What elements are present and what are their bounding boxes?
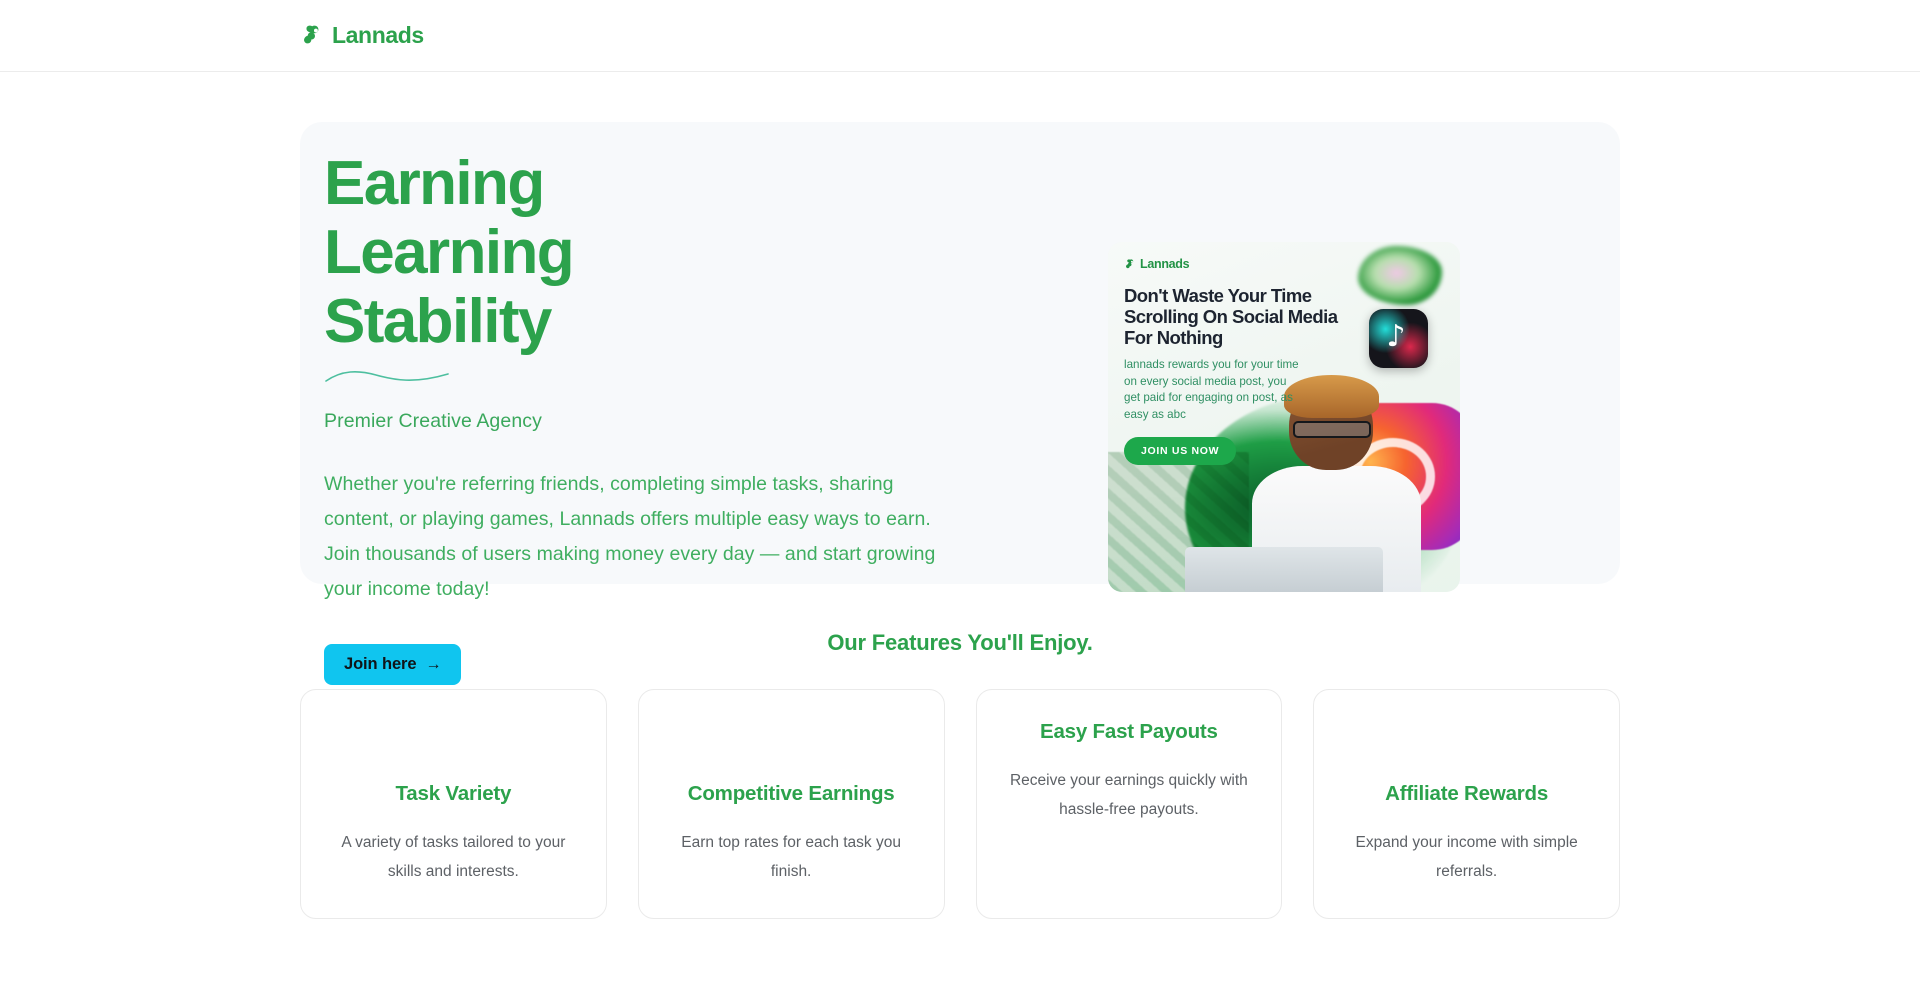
site-header: Lannads (0, 0, 1920, 72)
lannads-clover-icon (300, 23, 326, 49)
feature-card-description: A variety of tasks tailored to your skil… (325, 829, 582, 886)
join-here-label: Join here (344, 655, 416, 674)
hero-title-line-2: Learning (324, 219, 1000, 288)
feature-card[interactable]: Task Variety A variety of tasks tailored… (300, 689, 607, 919)
hero-promo-image[interactable]: ♪ Lannads Don't Waste Your Time Scrollin… (1108, 242, 1460, 592)
feature-card-grid: Task Variety A variety of tasks tailored… (300, 689, 1620, 919)
promo-subtext: lannads rewards you for your time on eve… (1124, 357, 1299, 423)
brand-logo-text: Lannads (332, 24, 424, 47)
feature-card-title: Easy Fast Payouts (1001, 720, 1258, 744)
feature-card-description: Expand your income with simple referrals… (1338, 829, 1595, 886)
hero-title-line-3: Stability (324, 288, 1000, 357)
promo-content: Lannads Don't Waste Your Time Scrolling … (1108, 242, 1460, 592)
feature-card-description: Receive your earnings quickly with hassl… (1001, 767, 1258, 824)
feature-card[interactable]: Affiliate Rewards Expand your income wit… (1313, 689, 1620, 919)
wave-divider-icon (324, 368, 450, 386)
feature-card-description: Earn top rates for each task you finish. (663, 829, 920, 886)
feature-card-title: Task Variety (325, 782, 582, 806)
hero-kicker: Premier Creative Agency (324, 410, 1000, 433)
feature-card-title: Affiliate Rewards (1338, 782, 1595, 806)
join-here-button[interactable]: Join here → (324, 644, 461, 685)
feature-card[interactable]: Competitive Earnings Earn top rates for … (638, 689, 945, 919)
feature-card-title: Competitive Earnings (663, 782, 920, 806)
page-title: Earning Learning Stability (324, 150, 1000, 356)
brand-logo[interactable]: Lannads (300, 23, 424, 49)
promo-logo: Lannads (1124, 257, 1444, 271)
arrow-right-icon: → (425, 657, 441, 673)
promo-headline: Don't Waste Your Time Scrolling On Socia… (1124, 285, 1349, 348)
promo-logo-text: Lannads (1140, 257, 1189, 271)
hero-description: Whether you're referring friends, comple… (324, 467, 954, 606)
feature-card[interactable]: Easy Fast Payouts Receive your earnings … (976, 689, 1283, 919)
header-inner: Lannads (0, 23, 1920, 49)
hero-copy: Earning Learning Stability Premier Creat… (300, 122, 1000, 685)
hero-title-line-1: Earning (324, 150, 1000, 219)
hero-section: Earning Learning Stability Premier Creat… (300, 122, 1620, 584)
join-us-now-button[interactable]: JOIN US NOW (1124, 437, 1236, 465)
lannads-clover-icon (1124, 258, 1137, 271)
